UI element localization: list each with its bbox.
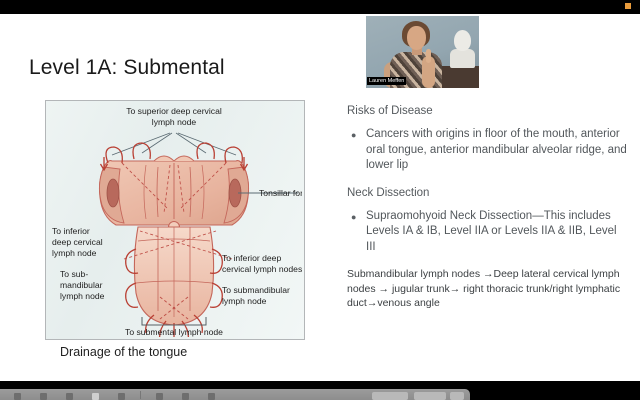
figure-label-inf-deep-right-2: cervical lymph nodes	[222, 264, 302, 274]
figure-label-inf-deep-left-2: deep cervical	[52, 237, 103, 247]
tongue-drainage-diagram: To superior deep cervical lymph node Ton…	[46, 101, 302, 337]
section-heading-neck-dissection: Neck Dissection	[347, 186, 627, 200]
figure-label-inf-deep-left-3: lymph node	[52, 248, 97, 258]
window-top-bar	[0, 0, 640, 14]
toolbar-prev-icon[interactable]	[156, 393, 163, 400]
screen: Level 1A: Submental	[0, 0, 640, 400]
bullet-text-risks: Cancers with origins in floor of the mou…	[366, 127, 627, 174]
figure-label-superior-deep-line1: To superior deep cervical	[126, 106, 222, 116]
toolbar-pen-icon[interactable]	[40, 393, 47, 400]
webcam-bust-body	[450, 49, 475, 68]
anatomy-figure: To superior deep cervical lymph node Ton…	[45, 100, 305, 340]
figure-label-submental: To submental lymph node	[125, 327, 223, 337]
webcam-bust-head-icon	[454, 30, 471, 51]
bullet-marker-icon: ●	[347, 127, 366, 174]
figure-label-submand-left-1: To sub-	[60, 269, 88, 279]
toolbar-camera-button[interactable]	[450, 392, 464, 400]
toolbar-record-button[interactable]	[372, 392, 408, 400]
figure-label-inf-deep-right-1: To inferior deep	[222, 253, 281, 263]
toolbar-grid-icon[interactable]	[208, 393, 215, 400]
figure-label-submand-left-2: mandibular	[60, 280, 103, 290]
figure-label-inf-deep-left-1: To inferior	[52, 226, 90, 236]
tongue-base	[99, 156, 248, 233]
figure-label-submand-right-2: lymph node	[222, 296, 267, 306]
toolbar-cursor-icon[interactable]	[14, 393, 21, 400]
figure-label-superior-deep-line2: lymph node	[152, 117, 197, 127]
slide-canvas: Level 1A: Submental	[0, 14, 640, 381]
webcam-finger	[426, 49, 431, 63]
figure-label-submand-right-1: To submandibular	[222, 285, 290, 295]
webcam-name-label: Lauren Meffen	[367, 77, 406, 85]
pointer-lines-superior	[112, 133, 236, 155]
toolbar-divider	[140, 391, 141, 399]
recording-indicator-icon	[625, 3, 631, 9]
tongue-body	[124, 227, 232, 325]
bullet-item-risks: ● Cancers with origins in floor of the m…	[347, 127, 627, 174]
bullet-item-neck-dissection: ● Supraomohyoid Neck Dissection—This inc…	[347, 209, 627, 256]
page-title: Level 1A: Submental	[29, 56, 225, 80]
slide-content-column: Risks of Disease ● Cancers with origins …	[347, 104, 627, 311]
toolbar-laser-icon[interactable]	[66, 393, 73, 400]
bullet-marker-icon: ●	[347, 209, 366, 256]
webcam-table	[438, 66, 479, 88]
figure-caption: Drainage of the tongue	[60, 345, 187, 359]
webcam-overlay[interactable]: Lauren Meffen	[366, 16, 479, 88]
presentation-toolbar[interactable]	[0, 389, 470, 400]
bullet-text-neck-dissection: Supraomohyoid Neck Dissection—This inclu…	[366, 209, 627, 256]
toolbar-notes-icon[interactable]	[118, 393, 125, 400]
figure-label-tonsillar: Tonsillar form	[259, 188, 302, 198]
drainage-pathway-text: Submandibular lymph nodes →Deep lateral …	[347, 267, 627, 311]
toolbar-slide-icon[interactable]	[92, 393, 99, 400]
toolbar-share-button[interactable]	[414, 392, 446, 400]
toolbar-next-icon[interactable]	[182, 393, 189, 400]
figure-label-submand-left-3: lymph node	[60, 291, 105, 301]
webcam-face	[407, 26, 426, 50]
section-heading-risks: Risks of Disease	[347, 104, 627, 118]
